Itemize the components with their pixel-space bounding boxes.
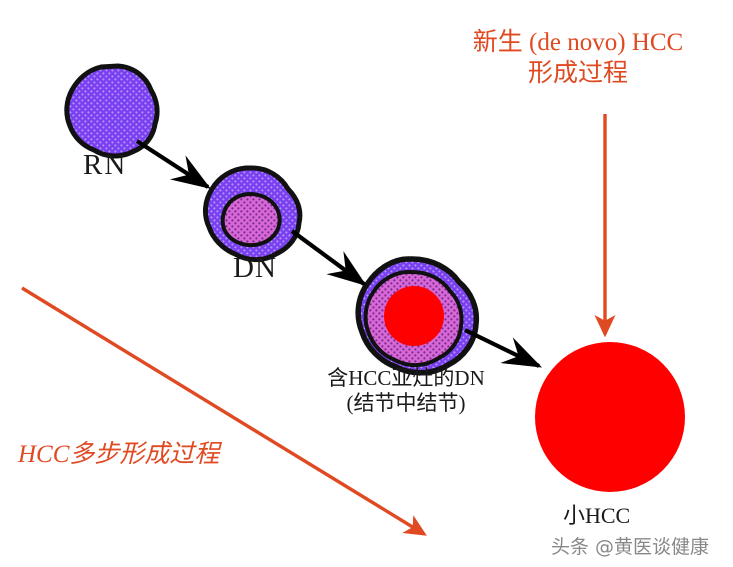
label-subfocus-line-2: (结节中结节) bbox=[306, 391, 506, 416]
arrow-subfocus-to-hcc bbox=[465, 330, 539, 366]
de-novo-line-1: 新生 (de novo) HCC bbox=[473, 29, 683, 56]
node-dn bbox=[205, 168, 299, 260]
label-dn-with-hcc-subfocus: 含HCC亚灶的DN (结节中结节) bbox=[306, 366, 506, 416]
diagram-canvas: 新生 (de novo) HCC 形成过程 HCC多步形成过程 RN DN 含H… bbox=[0, 0, 733, 567]
label-small-hcc: 小HCC bbox=[563, 503, 630, 529]
label-dn: DN bbox=[233, 251, 277, 285]
watermark: 头条 @黄医谈健康 bbox=[551, 532, 709, 559]
de-novo-line-2: 形成过程 bbox=[528, 60, 628, 87]
node-dn-with-hcc-subfocus bbox=[358, 259, 476, 373]
arrow-rn-to-dn bbox=[137, 141, 208, 187]
label-rn: RN bbox=[83, 148, 127, 182]
label-subfocus-line-1: 含HCC亚灶的DN bbox=[327, 366, 485, 390]
node-small-hcc bbox=[535, 342, 685, 492]
multistep-annotation: HCC多步形成过程 bbox=[18, 440, 219, 471]
node-rn bbox=[67, 66, 157, 156]
arrow-dn-to-subfocus bbox=[292, 231, 364, 284]
de-novo-annotation: 新生 (de novo) HCC 形成过程 bbox=[443, 28, 713, 89]
